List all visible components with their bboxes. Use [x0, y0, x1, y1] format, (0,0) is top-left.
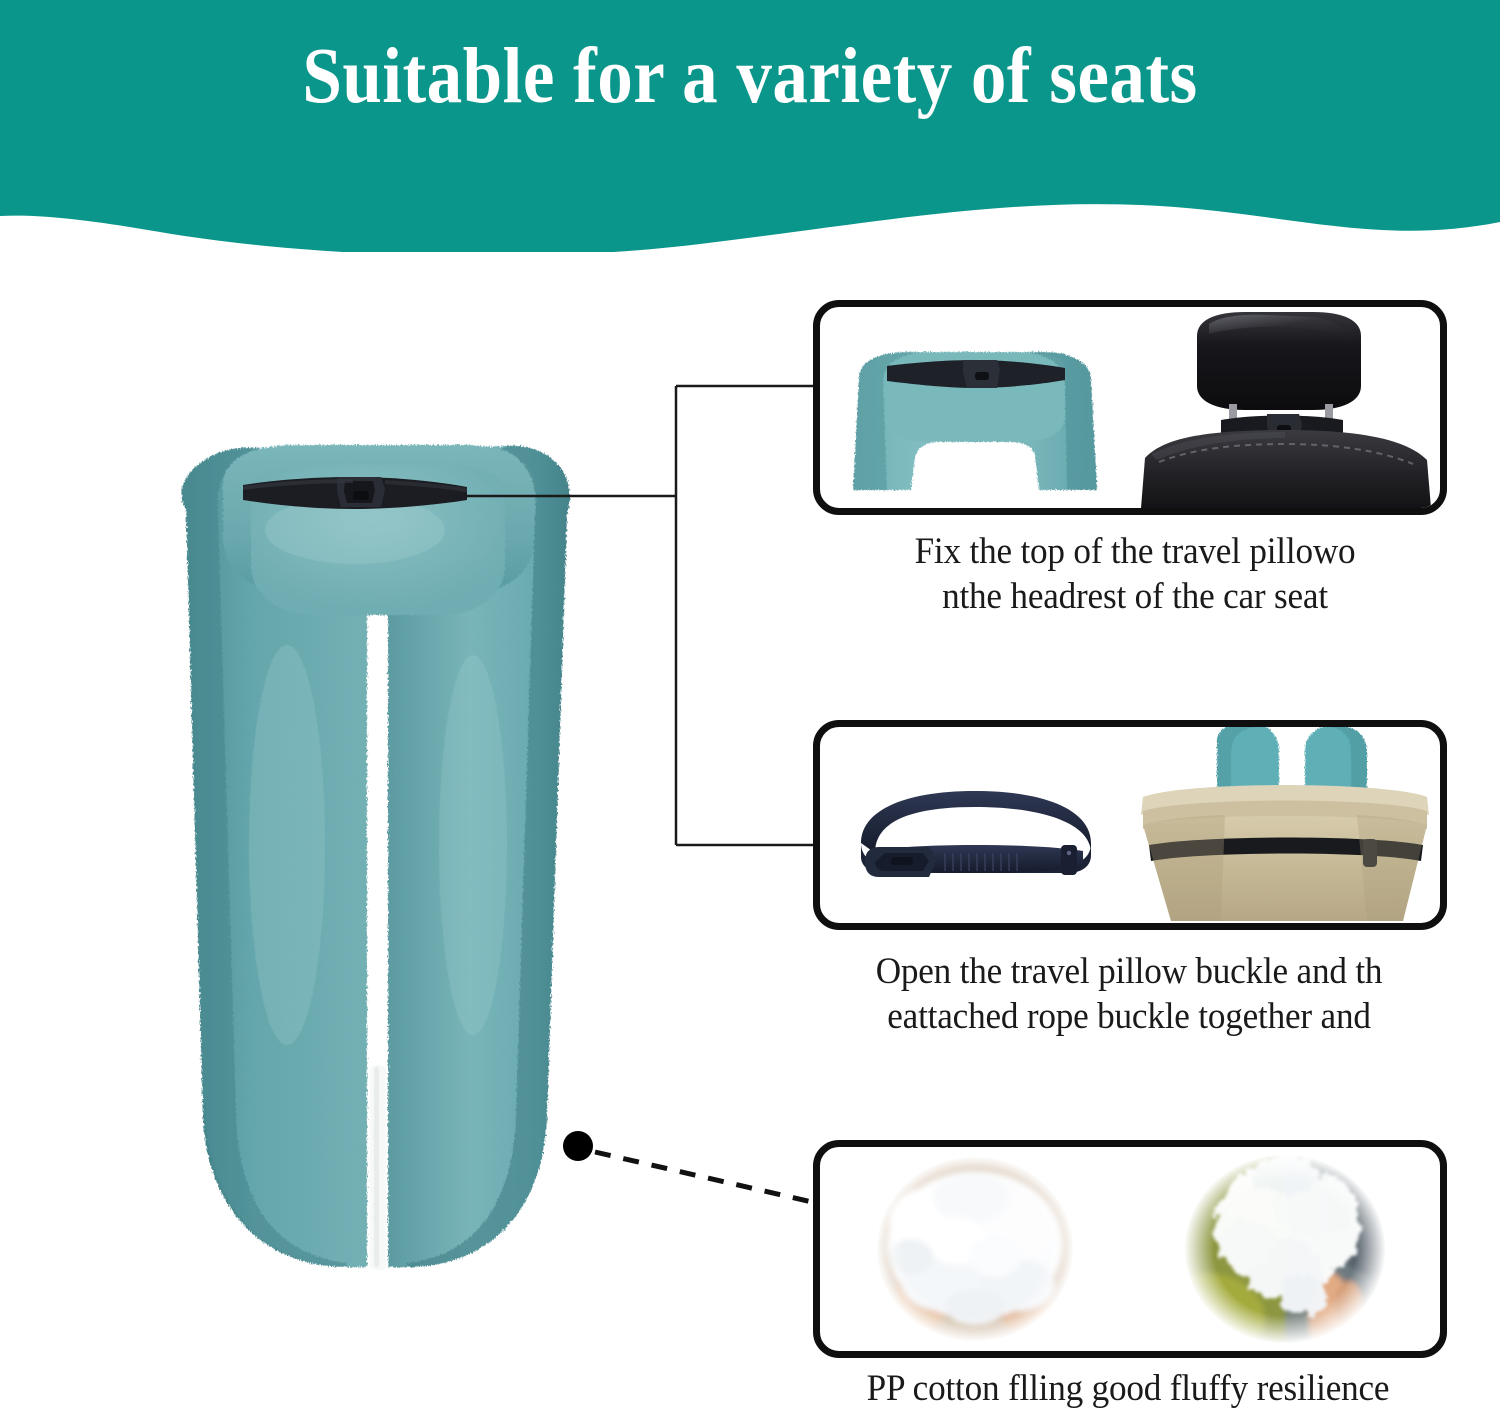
caption-line: Open the travel pillow buckle and th — [794, 949, 1465, 994]
callout-panel-filling — [813, 1140, 1447, 1358]
main-product-image — [55, 415, 695, 1355]
rope-buckle-photo — [820, 727, 1130, 923]
cotton-filling-photo-left — [820, 1147, 1130, 1351]
adjustable-strap-image — [825, 727, 1125, 923]
seat-with-pillow-photo — [1130, 727, 1440, 923]
pp-cotton-hands-image — [825, 1149, 1125, 1349]
caption-line: eattached rope buckle together and — [794, 994, 1465, 1039]
infographic-page: Suitable for a variety of seats — [0, 0, 1500, 1413]
caption-filling: PP cotton flling good fluffy resilience — [784, 1366, 1472, 1411]
car-headrest-photo — [1130, 307, 1440, 508]
caption-headrest: Fix the top of the travel pillowo nthe h… — [807, 529, 1463, 619]
cotton-filling-photo-right — [1130, 1147, 1440, 1351]
pillow-top-photo — [820, 307, 1130, 508]
u-pillow-illustration — [55, 415, 695, 1355]
caption-line: nthe headrest of the car seat — [807, 574, 1463, 619]
caption-line: Fix the top of the travel pillowo — [807, 529, 1463, 574]
callout-panel-buckle — [813, 720, 1447, 930]
pillow-top-with-buckle-image — [825, 308, 1125, 508]
pillow-buckle-strap — [241, 473, 469, 515]
caption-buckle: Open the travel pillow buckle and th eat… — [794, 949, 1465, 1039]
beige-seat-back-image — [1135, 727, 1435, 923]
buckle-strap-icon — [241, 473, 469, 515]
center-seam — [370, 1065, 386, 1270]
callout-panel-headrest — [813, 300, 1447, 515]
car-seat-headrest-image — [1135, 308, 1435, 508]
caption-line: PP cotton flling good fluffy resilience — [784, 1366, 1472, 1411]
pp-cotton-fluff-image — [1135, 1149, 1435, 1349]
page-title: Suitable for a variety of seats — [75, 36, 1425, 119]
